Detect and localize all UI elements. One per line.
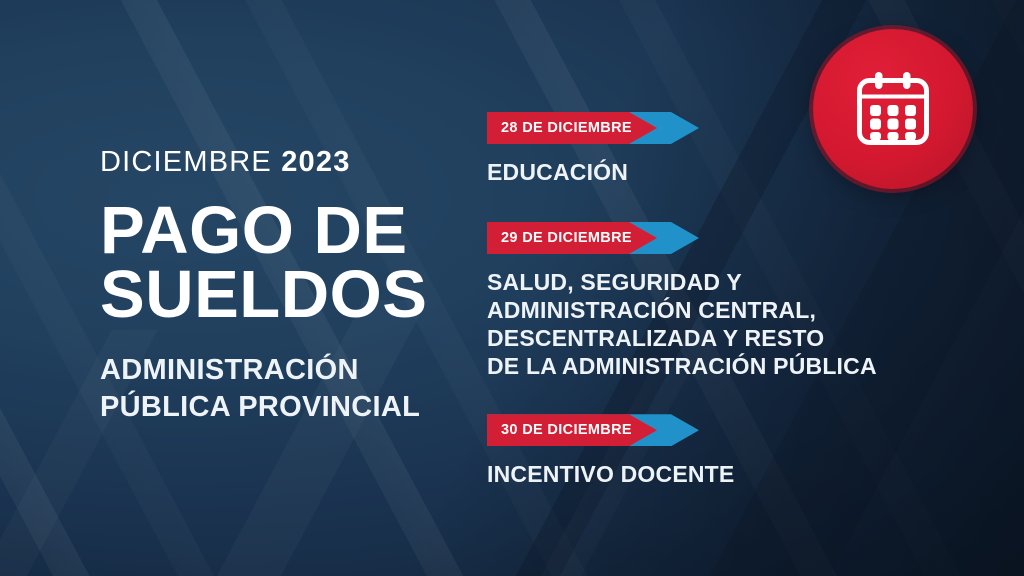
schedule-description-2-line-2: ADMINISTRACIÓN CENTRAL, — [487, 296, 937, 324]
page-subtitle: ADMINISTRACIÓN PÚBLICA PROVINCIAL — [100, 352, 470, 426]
kicker-date: DICIEMBRE 2023 — [100, 148, 470, 177]
schedule-description-2-line-3: DESCENTRALIZADA Y RESTO — [487, 324, 937, 352]
spacer-1 — [487, 186, 937, 222]
badge-red-chevron-3: 30 DE DICIEMBRE — [487, 414, 657, 446]
schedule-item-1: 28 DE DICIEMBRE EDUCACIÓN — [487, 112, 937, 186]
title-block: DICIEMBRE 2023 PAGO DE SUELDOS ADMINISTR… — [100, 148, 470, 427]
schedule-description-3-line-1: INCENTIVO DOCENTE — [487, 460, 937, 488]
badge-red-chevron-2: 29 DE DICIEMBRE — [487, 222, 657, 254]
kicker-month: DICIEMBRE — [100, 146, 272, 178]
schedule-item-3: 30 DE DICIEMBRE INCENTIVO DOCENTE — [487, 414, 937, 488]
date-badge-3: 30 DE DICIEMBRE — [487, 414, 699, 446]
date-badge-label-2: 29 DE DICIEMBRE — [487, 230, 632, 246]
date-badge-2: 29 DE DICIEMBRE — [487, 222, 699, 254]
kicker-year: 2023 — [281, 146, 350, 178]
date-badge-label-3: 30 DE DICIEMBRE — [487, 422, 632, 438]
date-badge-1: 28 DE DICIEMBRE — [487, 112, 699, 144]
page-subtitle-line-2: PÚBLICA PROVINCIAL — [100, 389, 470, 426]
schedule-description-1-line-1: EDUCACIÓN — [487, 158, 937, 186]
date-badge-label-1: 28 DE DICIEMBRE — [487, 120, 632, 136]
schedule-description-2: SALUD, SEGURIDAD Y ADMINISTRACIÓN CENTRA… — [487, 268, 937, 380]
page-title-line-2: SUELDOS — [100, 263, 470, 327]
badge-red-chevron-1: 28 DE DICIEMBRE — [487, 112, 657, 144]
schedule-description-1: EDUCACIÓN — [487, 158, 937, 186]
page-title: PAGO DE SUELDOS — [100, 199, 470, 326]
schedule-description-2-line-1: SALUD, SEGURIDAD Y — [487, 268, 937, 296]
poster-canvas: DICIEMBRE 2023 PAGO DE SUELDOS ADMINISTR… — [0, 0, 1024, 576]
schedule-description-2-line-4: DE LA ADMINISTRACIÓN PÚBLICA — [487, 352, 937, 380]
schedule-item-2: 29 DE DICIEMBRE SALUD, SEGURIDAD Y ADMIN… — [487, 222, 937, 380]
payment-schedule-list: 28 DE DICIEMBRE EDUCACIÓN 29 DE DICIEMBR… — [487, 112, 937, 488]
schedule-description-3: INCENTIVO DOCENTE — [487, 460, 937, 488]
page-subtitle-line-1: ADMINISTRACIÓN — [100, 354, 359, 386]
spacer-2 — [487, 380, 937, 414]
